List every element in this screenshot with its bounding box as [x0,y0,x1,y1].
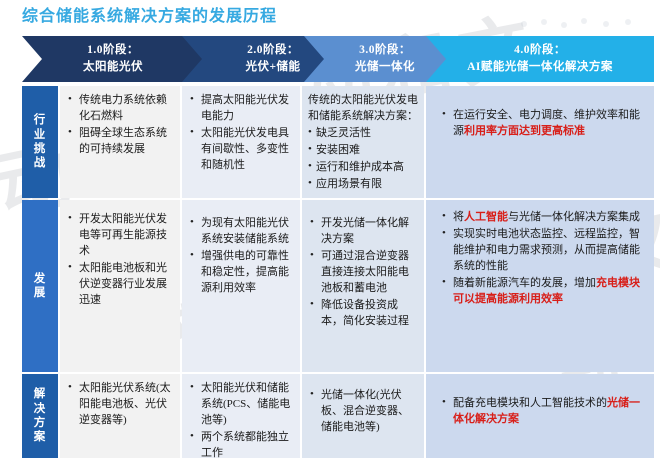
cell-r2c4-item1-highlight: 人工智能 [464,211,508,223]
bullet-list: 太阳能光伏系统(太阳能电池板、光伏逆变器等) [66,381,174,429]
stage-chevron-4[interactable]: 4.0阶段： AI赋能光储一体化解决方案 [426,36,654,82]
bullet-list: 缺乏灵活性 安装困难 运行和维护成本高 应用场景有限 [308,126,418,193]
page-title: 综合储能系统解决方案的发展历程 [22,2,277,26]
row-label-development-text: 发展 [34,272,47,301]
bullet-list: 开发光储一体化解决方案 可通过混合逆变器直接连接太阳能电池板和蓄电池 降低设备投… [308,216,418,330]
list-item: 为现有太阳能光伏系统安装储能系统 [188,216,294,248]
row-label-industry-challenge: 行业挑战 [22,86,58,198]
comparison-grid: 行业挑战 传统电力系统依赖化石燃料 阻碍全球生态系统的可持续发展 提高太阳能光伏… [22,86,654,458]
cell-r1c3-lead: 传统的太阳能光伏发电和储能系统解决方案： [308,93,418,125]
list-item: 太阳能电池板和光伏逆变器行业发展迅速 [66,261,174,309]
stage-chevron-bar: 1.0阶段： 太阳能光伏 2.0阶段： 光伏+储能 3.0阶段： 光储一体化 4… [22,36,654,82]
row-label-solution: 解决方案 [22,374,58,458]
list-item: 开发太阳能光伏发电等可再生能源技术 [66,212,174,260]
list-item: 将人工智能与光储一体化解决方案集成 [440,210,640,226]
row-label-development: 发展 [22,200,58,372]
list-item: 降低设备投资成本，简化安装过程 [308,298,418,330]
bullet-list: 光储一体化(光伏板、混合逆变器、储能电池等) [308,388,418,436]
bullet-list: 配备充电模块和人工智能技术的光储一体化解决方案 [440,396,640,428]
bullet-list: 为现有太阳能光伏系统安装储能系统 增强供电的可靠性和稳定性，提高能源利用效率 [188,216,294,297]
list-item: 可通过混合逆变器直接连接太阳能电池板和蓄电池 [308,249,418,297]
stage-chevron-3-label: 3.0阶段： 光储一体化 [355,42,415,75]
list-item: 提高太阳能光伏发电能力 [188,93,294,125]
cell-r3c2: 太阳能光伏和储能系统(PCS、储能电池等) 两个系统都能独立工作 [182,374,300,458]
list-item: 太阳能光伏系统(太阳能电池板、光伏逆变器等) [66,381,174,429]
list-item: 两个系统都能独立工作 [188,430,294,458]
bullet-list: 开发太阳能光伏发电等可再生能源技术 太阳能电池板和光伏逆变器行业发展迅速 [66,212,174,309]
list-item: 在运行安全、电力调度、维护效率和能源利用率方面达到更高标准 [440,108,640,140]
list-item: 传统电力系统依赖化石燃料 [66,93,174,125]
bullet-list: 太阳能光伏和储能系统(PCS、储能电池等) 两个系统都能独立工作 [188,381,294,458]
cell-r2c4-item3-a: 随着新能源汽车的发展，增加 [453,277,596,289]
list-item: 应用场景有限 [308,177,418,193]
cell-r2c4: 将人工智能与光储一体化解决方案集成 实现实时电池状态监控、远程监控，智能维护和电… [426,200,654,372]
bullet-list: 在运行安全、电力调度、维护效率和能源利用率方面达到更高标准 [440,108,640,140]
list-item: 阻碍全球生态系统的可持续发展 [66,126,174,158]
list-item: 配备充电模块和人工智能技术的光储一体化解决方案 [440,396,640,428]
list-item: 实现实时电池状态监控、远程监控，智能维护和电力需求预测，从而提高储能系统的性能 [440,227,640,275]
cell-r1c2: 提高太阳能光伏发电能力 太阳能光伏发电具有间歇性、多变性和随机性 [182,86,300,198]
row-label-industry-challenge-text: 行业挑战 [34,113,47,171]
list-item: 安装困难 [308,143,418,159]
stage-chevron-2-label: 2.0阶段： 光伏+储能 [245,42,300,75]
cell-r1c3: 传统的太阳能光伏发电和储能系统解决方案： 缺乏灵活性 安装困难 运行和维护成本高… [302,86,424,198]
cell-r3c3: 光储一体化(光伏板、混合逆变器、储能电池等) [302,374,424,458]
list-item: 随着新能源汽车的发展，增加充电模块可以提高能源利用效率 [440,276,640,308]
bullet-list: 传统电力系统依赖化石燃料 阻碍全球生态系统的可持续发展 [66,93,174,158]
list-item: 缺乏灵活性 [308,126,418,142]
list-item: 开发光储一体化解决方案 [308,216,418,248]
cell-r3c1: 太阳能光伏系统(太阳能电池板、光伏逆变器等) [60,374,180,458]
list-item: 运行和维护成本高 [308,160,418,176]
stage-chevron-1[interactable]: 1.0阶段： 太阳能光伏 [22,36,204,82]
stage-chevron-4-label: 4.0阶段： AI赋能光储一体化解决方案 [467,42,613,75]
slide-root: 综合储能系统解决方案的发展历程 1.0阶段： 太阳能光伏 2.0阶段： 光伏+储… [0,0,660,461]
row-label-solution-text: 解决方案 [34,387,47,445]
cell-r2c1: 开发太阳能光伏发电等可再生能源技术 太阳能电池板和光伏逆变器行业发展迅速 [60,200,180,372]
cell-r1c4: 在运行安全、电力调度、维护效率和能源利用率方面达到更高标准 [426,86,654,198]
cell-r3c4-plain: 配备充电模块和人工智能技术的 [453,397,607,409]
cell-r2c4-item1-b: 与光储一体化解决方案集成 [508,211,640,223]
cell-r2c2: 为现有太阳能光伏系统安装储能系统 增强供电的可靠性和稳定性，提高能源利用效率 [182,200,300,372]
cell-r1c1: 传统电力系统依赖化石燃料 阻碍全球生态系统的可持续发展 [60,86,180,198]
bullet-list: 将人工智能与光储一体化解决方案集成 实现实时电池状态监控、远程监控，智能维护和电… [440,210,640,308]
cell-r1c4-highlight: 利用率方面达到更高标准 [464,125,585,137]
bullet-list: 提高太阳能光伏发电能力 太阳能光伏发电具有间歇性、多变性和随机性 [188,93,294,174]
list-item: 太阳能光伏和储能系统(PCS、储能电池等) [188,381,294,429]
list-item: 太阳能光伏发电具有间歇性、多变性和随机性 [188,126,294,174]
cell-r2c4-item1-a: 将 [453,211,464,223]
list-item: 光储一体化(光伏板、混合逆变器、储能电池等) [308,388,418,436]
stage-chevron-1-label: 1.0阶段： 太阳能光伏 [83,42,143,75]
cell-r3c4: 配备充电模块和人工智能技术的光储一体化解决方案 [426,374,654,458]
list-item: 增强供电的可靠性和稳定性，提高能源利用效率 [188,249,294,297]
cell-r2c3: 开发光储一体化解决方案 可通过混合逆变器直接连接太阳能电池板和蓄电池 降低设备投… [302,200,424,372]
